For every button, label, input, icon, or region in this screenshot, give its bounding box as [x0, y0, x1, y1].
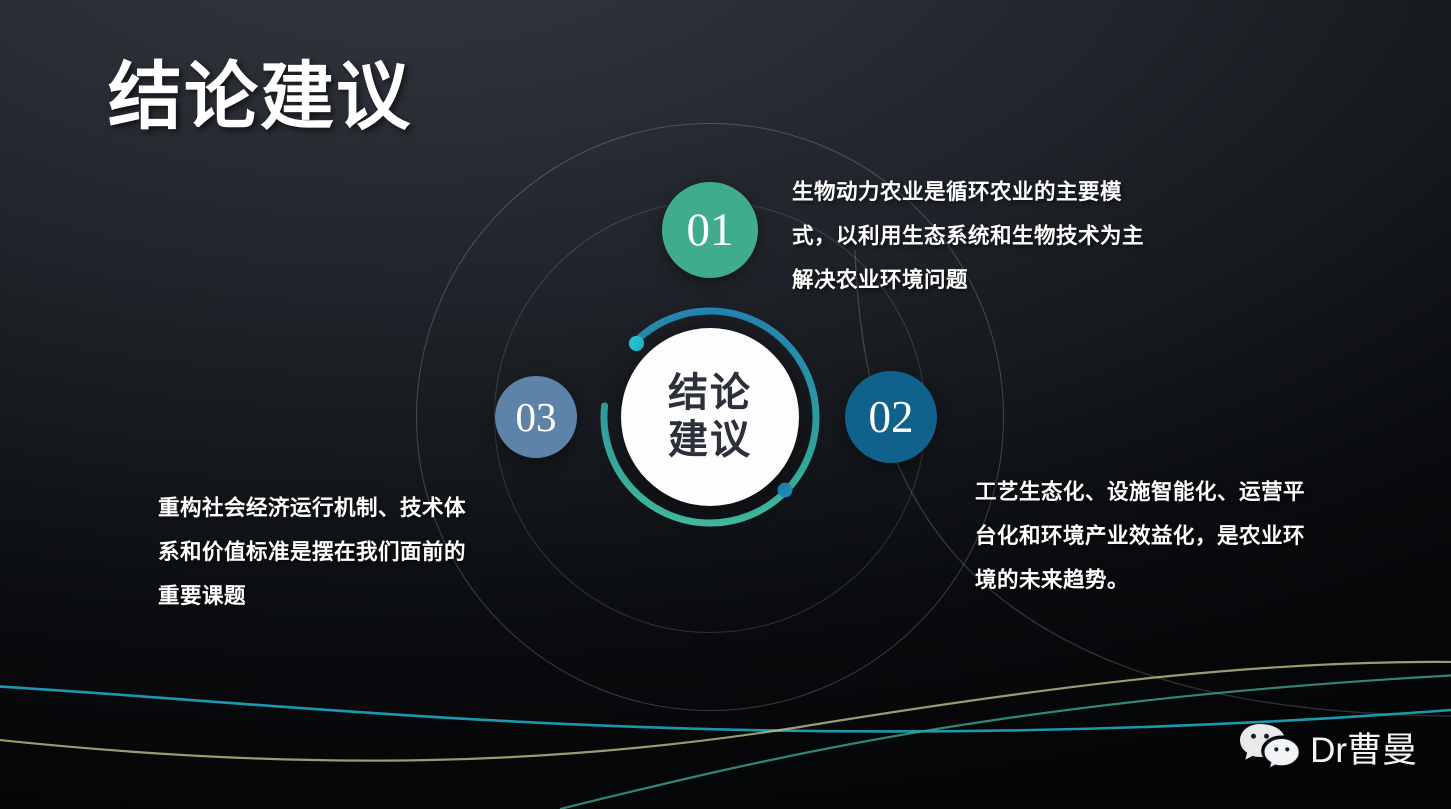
- ring-dot-top: [629, 336, 644, 351]
- brand-watermark: Dr曹曼: [1239, 721, 1417, 773]
- node-number-01: 01: [687, 203, 734, 257]
- node-number-03: 03: [516, 393, 557, 441]
- node-description-03: 重构社会经济运行机制、技术体系和价值标准是摆在我们面前的重要课题: [158, 486, 478, 618]
- page-title: 结论建议: [108, 58, 412, 136]
- node-description-02: 工艺生态化、设施智能化、运营平台化和环境产业效益化，是农业环境的未来趋势。: [975, 470, 1305, 602]
- brand-label: Dr曹曼: [1310, 722, 1417, 773]
- wechat-icon: [1239, 721, 1301, 773]
- hub-label-line1: 结论: [668, 370, 752, 417]
- node-number-02: 02: [869, 391, 914, 443]
- node-badge-03[interactable]: 03: [495, 376, 577, 458]
- node-description-01: 生物动力农业是循环农业的主要模式，以利用生态系统和生物技术为主解决农业环境问题: [792, 170, 1164, 302]
- ring-dot-bottom: [778, 483, 793, 498]
- hub-label-line2: 建议: [668, 417, 752, 464]
- slide-canvas: 结论建议 结论 建议 01: [0, 0, 1451, 809]
- node-badge-01[interactable]: 01: [662, 182, 758, 278]
- hub-center: 结论 建议: [621, 328, 799, 506]
- node-badge-02[interactable]: 02: [845, 371, 937, 463]
